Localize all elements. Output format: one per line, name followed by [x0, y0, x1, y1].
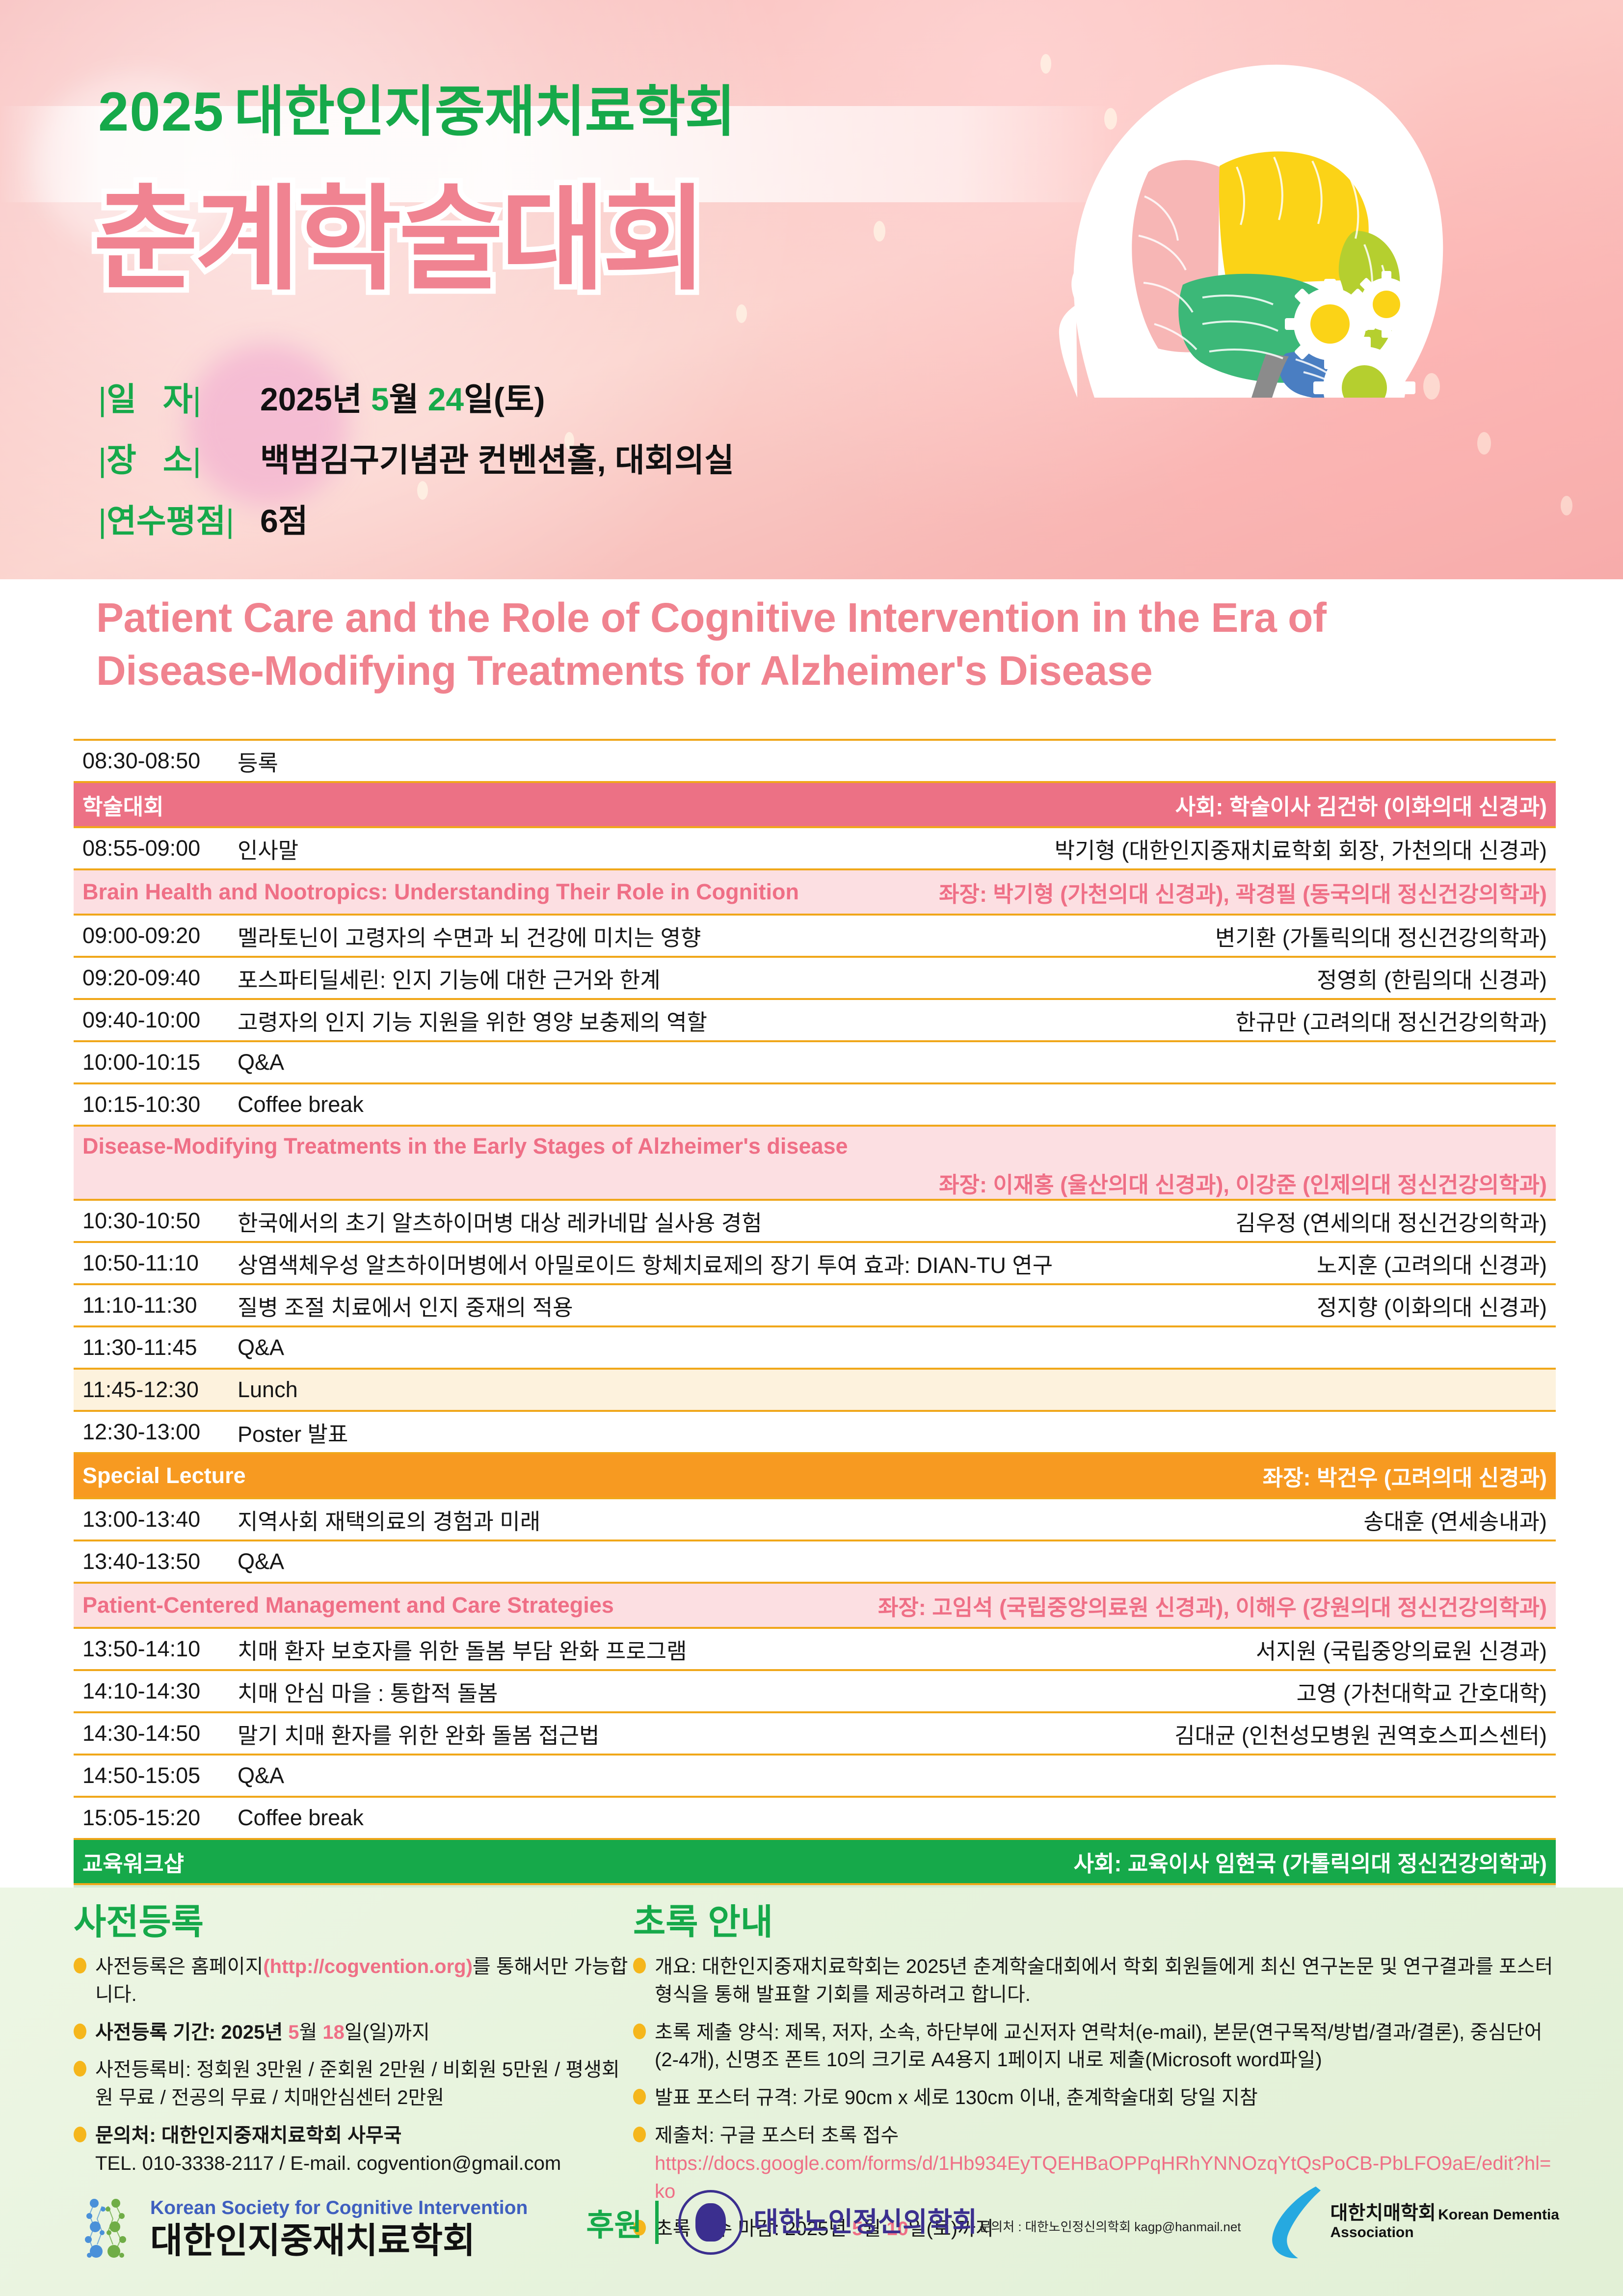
- session-title: 학술대회: [82, 789, 164, 821]
- theme-line-2: Disease-Modifying Treatments for Alzheim…: [96, 645, 1549, 698]
- schedule-title: 고령자의 인지 기능 지원을 위한 영양 보충제의 역할: [225, 1004, 1225, 1036]
- schedule-speaker: 노지훈 (고려의대 신경과): [1307, 1247, 1547, 1279]
- schedule-session-banner: Brain Health and Nootropics: Understandi…: [74, 868, 1556, 914]
- session-title: Disease-Modifying Treatments in the Earl…: [82, 1134, 1547, 1159]
- kda-name-korean: 대한치매학회: [1330, 2203, 1436, 2224]
- schedule-title: 지역사회 재택의료의 경험과 미래: [225, 1504, 1354, 1536]
- schedule-time: 14:30-14:50: [82, 1721, 225, 1746]
- schedule-time: 09:40-10:00: [82, 1007, 225, 1033]
- schedule-time: 12:30-13:00: [82, 1419, 225, 1445]
- schedule-row: 10:15-10:30Coffee break: [74, 1082, 1556, 1125]
- contact-tel-email: TEL. 010-3338-2117 / E-mail. cogvention@…: [95, 2153, 561, 2174]
- kda-swoosh-icon: [1268, 2186, 1323, 2259]
- schedule-title: Poster 발표: [225, 1416, 1537, 1448]
- preregistration-item: 사전등록비: 정회원 3만원 / 준회원 2만원 / 비회원 5만원 / 평생회…: [74, 2056, 628, 2112]
- schedule-row: 09:00-09:20멜라토닌이 고령자의 수면과 뇌 건강에 미치는 영향변기…: [74, 914, 1556, 956]
- info-value-credits: 6점: [260, 495, 308, 542]
- session-chair: 좌장: 고임석 (국립중앙의료원 신경과), 이해우 (강원의대 정신건강의학과…: [878, 1590, 1547, 1621]
- schedule-title: 멜라토닌이 고령자의 수면과 뇌 건강에 미치는 영향: [225, 920, 1205, 952]
- schedule-row: 13:00-13:40지역사회 재택의료의 경험과 미래송대훈 (연세송내과): [74, 1497, 1556, 1540]
- conference-theme: Patient Care and the Role of Cognitive I…: [96, 592, 1549, 697]
- info-value-venue: 백범김구기념관 컨벤션홀, 대회의실: [260, 434, 734, 481]
- schedule-title: 한국에서의 초기 알츠하이머병 대상 레카네맙 실사용 경험: [225, 1205, 1225, 1237]
- schedule-speaker: 박기형 (대한인지중재치료학회 회장, 가천의대 신경과): [1045, 833, 1547, 864]
- preregistration-heading: 사전등록: [74, 1905, 628, 1940]
- info-label-venue: |장소|: [98, 434, 254, 481]
- schedule-row: 15:05-15:20Coffee break: [74, 1796, 1556, 1838]
- conference-poster: 2025대한인지중재치료학회 춘계학술대회 |일자| 2025년 5월 24일(…: [0, 0, 1623, 2296]
- session-chair: 좌장: 이재홍 (울산의대 신경과), 이강준 (인제의대 정신건강의학과): [82, 1167, 1547, 1199]
- schedule-row: 14:50-15:05Q&A: [74, 1754, 1556, 1796]
- schedule-session-banner: Special Lecture좌장: 박건우 (고려의대 신경과): [74, 1452, 1556, 1497]
- sponsor-label: 후원: [586, 2200, 642, 2244]
- schedule-speaker: 고영 (가천대학교 간호대학): [1287, 1675, 1547, 1707]
- page-title: 춘계학술대회: [93, 173, 704, 307]
- abstract-item: 초록 제출 양식: 제목, 저자, 소속, 하단부에 교신저자 연락처(e-ma…: [633, 2019, 1556, 2075]
- preregistration-item: 사전등록 기간: 2025년 5월 18일(일)까지: [74, 2019, 628, 2047]
- schedule-speaker: 변기환 (가톨릭의대 정신건강의학과): [1205, 920, 1547, 952]
- schedule-session-banner: 학술대회사회: 학술이사 김건하 (이화의대 신경과): [74, 781, 1556, 826]
- society-logo-mark-icon: [80, 2194, 137, 2262]
- schedule-time: 15:05-15:20: [82, 1805, 225, 1831]
- session-chair: 사회: 학술이사 김건하 (이화의대 신경과): [1175, 789, 1547, 821]
- kagp-seal-icon: [678, 2190, 743, 2255]
- schedule-title: 치매 환자 보호자를 위한 돌봄 부담 완화 프로그램: [225, 1633, 1246, 1665]
- schedule-row: 09:40-10:00고령자의 인지 기능 지원을 위한 영양 보충제의 역할한…: [74, 998, 1556, 1040]
- schedule-time: 08:30-08:50: [82, 748, 225, 774]
- decor-bokeh: [874, 221, 885, 242]
- schedule-time: 11:45-12:30: [82, 1377, 225, 1403]
- year-label: 2025: [98, 81, 224, 142]
- preregistration-item: 사전등록은 홈페이지(http://cogvention.org)를 통해서만 …: [74, 1953, 628, 2009]
- schedule-title: 포스파티딜세린: 인지 기능에 대한 근거와 한계: [225, 962, 1307, 994]
- schedule-title: 질병 조절 치료에서 인지 중재의 적용: [225, 1290, 1307, 1322]
- kagp-name: 대한노인정신의학회: [754, 2207, 977, 2237]
- schedule-row: 10:30-10:50한국에서의 초기 알츠하이머병 대상 레카네맙 실사용 경…: [74, 1199, 1556, 1241]
- schedule-time: 13:40-13:50: [82, 1549, 225, 1574]
- decor-bokeh: [736, 304, 747, 323]
- session-title: 교육워크샵: [82, 1846, 184, 1878]
- schedule-title: Q&A: [225, 1335, 1537, 1360]
- theme-line-1: Patient Care and the Role of Cognitive I…: [96, 592, 1549, 645]
- schedule-session-banner: Patient-Centered Management and Care Str…: [74, 1582, 1556, 1627]
- event-info-block: |일자| 2025년 5월 24일(토) |장소| 백범김구기념관 컨벤션홀, …: [98, 373, 734, 556]
- schedule-time: 10:30-10:50: [82, 1208, 225, 1234]
- schedule-row: 13:50-14:10치매 환자 보호자를 위한 돌봄 부담 완화 프로그램서지…: [74, 1627, 1556, 1669]
- society-logo: Korean Society for Cognitive Interventio…: [80, 2194, 528, 2262]
- schedule-row: 11:30-11:45Q&A: [74, 1325, 1556, 1368]
- info-row-date: |일자| 2025년 5월 24일(토): [98, 373, 734, 420]
- society-logo-english: Korean Society for Cognitive Interventio…: [150, 2198, 528, 2217]
- session-title: Brain Health and Nootropics: Understandi…: [82, 879, 799, 905]
- schedule-row: 08:30-08:50등록: [74, 739, 1556, 781]
- bullet-dot-icon: [74, 2061, 86, 2077]
- schedule-time: 08:55-09:00: [82, 836, 225, 861]
- schedule-title: Coffee break: [225, 1092, 1537, 1117]
- schedule-title: Q&A: [225, 1763, 1537, 1788]
- society-year-line: 2025대한인지중재치료학회: [98, 78, 735, 146]
- schedule-speaker: 김대균 (인천성모병원 권역호스피스센터): [1165, 1718, 1547, 1750]
- abstract-item: 개요: 대한인지중재치료학회는 2025년 춘계학술대회에서 학회 회원들에게 …: [633, 1953, 1556, 2009]
- schedule-row: 11:10-11:30질병 조절 치료에서 인지 중재의 적용정지향 (이화의대…: [74, 1283, 1556, 1325]
- session-chair: 사회: 교육이사 임현국 (가톨릭의대 정신건강의학과): [1074, 1846, 1547, 1878]
- society-logo-korean: 대한인지중재치료학회: [150, 2223, 528, 2259]
- schedule-speaker: 김우정 (연세의대 정신건강의학과): [1225, 1205, 1547, 1237]
- sponsor-row: 후원 대한노인정신의학회 문의처 : 대한노인정신의학회 kagp@hanmai…: [586, 2186, 1559, 2259]
- schedule-session-banner: Disease-Modifying Treatments in the Earl…: [74, 1125, 1556, 1199]
- brain-head-illustration: [972, 10, 1620, 398]
- abstract-item: 발표 포스터 규격: 가로 90cm x 세로 130cm 이내, 춘계학술대회…: [633, 2084, 1556, 2112]
- session-chair: 좌장: 박기형 (가천의대 신경과), 곽경필 (동국의대 정신건강의학과): [939, 876, 1547, 908]
- schedule-row: 14:10-14:30치매 안심 마을 : 통합적 돌봄고영 (가천대학교 간호…: [74, 1669, 1556, 1711]
- schedule-time: 13:50-14:10: [82, 1636, 225, 1662]
- info-label-credits: |연수평점|: [98, 495, 254, 542]
- kagp-contact: 문의처 : 대한노인정신의학회 kagp@hanmail.net: [979, 2219, 1241, 2234]
- schedule-time: 10:00-10:15: [82, 1050, 225, 1075]
- session-title: Patient-Centered Management and Care Str…: [82, 1593, 614, 1618]
- bullet-dot-icon: [633, 2127, 646, 2142]
- decor-bokeh: [1477, 432, 1491, 455]
- schedule-speaker: 한규만 (고려의대 정신건강의학과): [1225, 1004, 1547, 1036]
- schedule-time: 10:50-11:10: [82, 1250, 225, 1276]
- schedule-row: 10:50-11:10상염색체우성 알츠하이머병에서 아밀로이드 항체치료제의 …: [74, 1241, 1556, 1283]
- schedule-time: 11:30-11:45: [82, 1335, 225, 1360]
- schedule-row: 13:40-13:50Q&A: [74, 1540, 1556, 1582]
- schedule-title: 말기 치매 환자를 위한 완화 돌봄 접근법: [225, 1718, 1165, 1750]
- schedule-time: 09:00-09:20: [82, 923, 225, 948]
- session-chair: 좌장: 박건우 (고려의대 신경과): [1263, 1460, 1547, 1492]
- sponsor-kagp: 대한노인정신의학회 문의처 : 대한노인정신의학회 kagp@hanmail.n…: [678, 2190, 1241, 2255]
- preregistration-item: 문의처: 대한인지중재치료학회 사무국 TEL. 010-3338-2117 /…: [74, 2122, 628, 2178]
- society-name-label: 대한인지중재치료학회: [234, 81, 735, 142]
- schedule-title: Q&A: [225, 1549, 1537, 1574]
- schedule-session-banner: 교육워크샵사회: 교육이사 임현국 (가톨릭의대 정신건강의학과): [74, 1838, 1556, 1883]
- info-value-date: 2025년 5월 24일(토): [260, 373, 545, 420]
- schedule-row: 10:00-10:15Q&A: [74, 1040, 1556, 1082]
- schedule-title: Q&A: [225, 1050, 1537, 1075]
- bullet-dot-icon: [633, 1958, 646, 1973]
- abstract-heading: 초록 안내: [633, 1905, 1556, 1940]
- schedule-speaker: 송대훈 (연세송내과): [1354, 1504, 1547, 1536]
- bullet-dot-icon: [74, 2024, 86, 2039]
- info-label-date: |일자|: [98, 373, 254, 420]
- sponsor-divider: [655, 2201, 659, 2244]
- info-row-credits: |연수평점| 6점: [98, 495, 734, 542]
- bullet-dot-icon: [74, 2127, 86, 2142]
- schedule-title: 상염색체우성 알츠하이머병에서 아밀로이드 항체치료제의 장기 투여 효과: D…: [225, 1247, 1307, 1279]
- schedule-title: Lunch: [225, 1377, 1537, 1403]
- sponsor-kda: 대한치매학회 Korean DementiaAssociation: [1268, 2186, 1559, 2259]
- schedule-speaker: 정영희 (한림의대 신경과): [1307, 962, 1547, 994]
- schedule-time: 10:15-10:30: [82, 1092, 225, 1117]
- schedule-time: 11:10-11:30: [82, 1293, 225, 1318]
- schedule-title: Coffee break: [225, 1805, 1537, 1831]
- schedule-title: 인사말: [225, 833, 1045, 864]
- schedule-title: 치매 안심 마을 : 통합적 돌봄: [225, 1675, 1287, 1707]
- decor-bokeh: [1561, 496, 1572, 515]
- schedule-speaker: 정지향 (이화의대 신경과): [1307, 1290, 1547, 1322]
- contact-office: 문의처: 대한인지중재치료학회 사무국: [95, 2125, 401, 2146]
- schedule-time: 09:20-09:40: [82, 965, 225, 991]
- schedule-title: 등록: [225, 745, 1537, 777]
- schedule-time: 14:10-14:30: [82, 1678, 225, 1704]
- bullet-dot-icon: [74, 1958, 86, 1973]
- schedule-row: 14:30-14:50말기 치매 환자를 위한 완화 돌봄 접근법김대균 (인천…: [74, 1711, 1556, 1754]
- schedule-row: 12:30-13:00Poster 발표: [74, 1410, 1556, 1452]
- schedule-speaker: 서지원 (국립중앙의료원 신경과): [1246, 1633, 1547, 1665]
- bullet-dot-icon: [633, 2089, 646, 2105]
- schedule-row: 11:45-12:30Lunch: [74, 1368, 1556, 1410]
- schedule-time: 13:00-13:40: [82, 1507, 225, 1532]
- schedule-time: 14:50-15:05: [82, 1763, 225, 1788]
- bullet-dot-icon: [633, 2024, 646, 2039]
- registration-site-link[interactable]: (http://cogvention.org): [263, 1956, 473, 1977]
- schedule-row: 09:20-09:40포스파티딜세린: 인지 기능에 대한 근거와 한계정영희 …: [74, 956, 1556, 998]
- schedule-row: 08:55-09:00인사말박기형 (대한인지중재치료학회 회장, 가천의대 신…: [74, 826, 1556, 868]
- preregistration-section: 사전등록 사전등록은 홈페이지(http://cogvention.org)를 …: [74, 1905, 628, 2188]
- info-row-venue: |장소| 백범김구기념관 컨벤션홀, 대회의실: [98, 434, 734, 481]
- session-title: Special Lecture: [82, 1463, 246, 1488]
